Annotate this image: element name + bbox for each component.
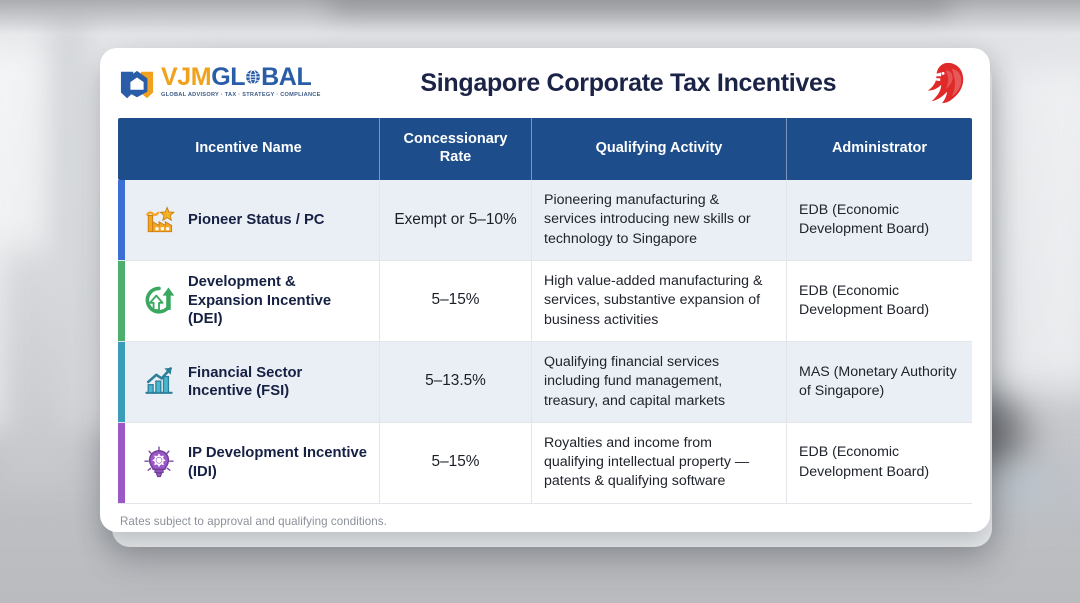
table-row: Financial Sector Incentive (FSI) 5–13.5%… [118, 342, 972, 423]
vjm-logo-text: VJMGLBAL GLOBAL ADVISORY · TAX · STRATEG… [161, 65, 321, 99]
table-row: Development & Expansion Incentive (DEI) … [118, 261, 972, 342]
bar-chart-uptrend-icon [141, 364, 177, 400]
cell-incentive-name: Financial Sector Incentive (FSI) [125, 342, 380, 422]
page-title: Singapore Corporate Tax Incentives [321, 69, 922, 98]
row-accent-bar [118, 261, 125, 341]
cell-administrator: EDB (Economic Development Board) [787, 261, 972, 341]
cell-concessionary-rate: Exempt or 5–10% [380, 180, 532, 260]
cell-qualifying-activity: High value-added manufacturing & service… [532, 261, 787, 341]
table-row: IP Development Incentive (IDI) 5–15% Roy… [118, 423, 972, 504]
cell-incentive-name: IP Development Incentive (IDI) [125, 423, 380, 503]
growth-arrow-circle-icon [141, 283, 177, 319]
cell-concessionary-rate: 5–13.5% [380, 342, 532, 422]
vjm-global-logo: VJMGLBAL GLOBAL ADVISORY · TAX · STRATEG… [118, 65, 321, 102]
row-accent-bar [118, 342, 125, 422]
column-header-concessionary-rate: Concessionary Rate [380, 118, 532, 180]
column-header-incentive-name: Incentive Name [118, 118, 380, 180]
row-accent-bar [118, 180, 125, 260]
background-blur-shape-left [0, 250, 70, 490]
incentive-name-label: IP Development Incentive (IDI) [188, 444, 367, 481]
column-header-qualifying-activity: Qualifying Activity [532, 118, 787, 180]
cell-administrator: EDB (Economic Development Board) [787, 423, 972, 503]
incentive-name-label: Development & Expansion Incentive (DEI) [188, 273, 367, 328]
cell-concessionary-rate: 5–15% [380, 261, 532, 341]
cell-incentive-name: Pioneer Status / PC [125, 180, 380, 260]
globe-icon [245, 69, 261, 85]
logo-word-vjm: VJM [161, 65, 211, 90]
cell-incentive-name: Development & Expansion Incentive (DEI) [125, 261, 380, 341]
background-top-vignette [0, 0, 1080, 34]
factory-star-icon [141, 202, 177, 238]
cell-administrator: EDB (Economic Development Board) [787, 180, 972, 260]
table-row: Pioneer Status / PC Exempt or 5–10% Pion… [118, 180, 972, 261]
vjm-logo-tagline: GLOBAL ADVISORY · TAX · STRATEGY · COMPL… [161, 93, 321, 99]
logo-word-gl: GL [211, 65, 245, 90]
cell-qualifying-activity: Pioneering manufacturing & services intr… [532, 180, 787, 260]
cell-concessionary-rate: 5–15% [380, 423, 532, 503]
infographic-card: VJMGLBAL GLOBAL ADVISORY · TAX · STRATEG… [100, 48, 990, 532]
incentive-name-label: Financial Sector Incentive (FSI) [188, 364, 367, 401]
incentive-name-label: Pioneer Status / PC [188, 211, 325, 229]
table-header-row: Incentive Name Concessionary Rate Qualif… [118, 118, 972, 180]
singapore-lion-head-icon [922, 59, 968, 107]
card-header: VJMGLBAL GLOBAL ADVISORY · TAX · STRATEG… [100, 48, 990, 118]
row-accent-bar [118, 423, 125, 503]
cell-administrator: MAS (Monetary Authority of Singapore) [787, 342, 972, 422]
cell-qualifying-activity: Royalties and income from qualifying int… [532, 423, 787, 503]
vjm-logo-mark-icon [118, 68, 156, 102]
cell-qualifying-activity: Qualifying financial services including … [532, 342, 787, 422]
background-window-right [980, 60, 1080, 390]
table-footnote: Rates subject to approval and qualifying… [100, 504, 990, 528]
vjm-logo-wordmark: VJMGLBAL [161, 65, 321, 90]
logo-word-bal: BAL [261, 65, 311, 90]
lightbulb-gear-icon [141, 445, 177, 481]
column-header-administrator: Administrator [787, 118, 972, 180]
incentives-table: Incentive Name Concessionary Rate Qualif… [100, 118, 990, 504]
